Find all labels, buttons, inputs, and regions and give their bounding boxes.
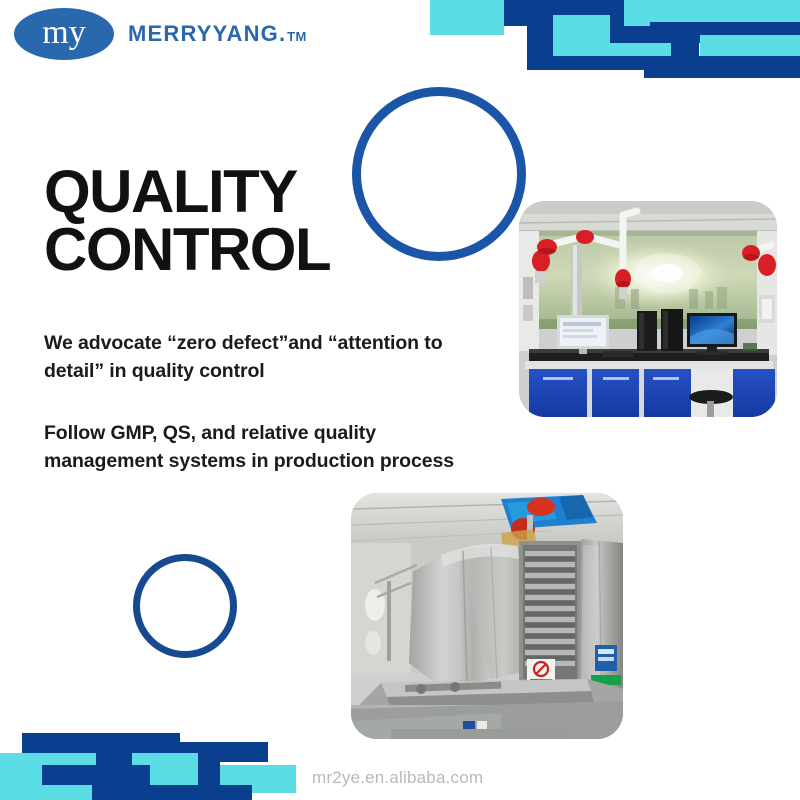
logo-wordmark-text: MERRYYANG xyxy=(128,21,279,46)
decor-block-blue-13 xyxy=(42,765,150,785)
decor-block-blue-14 xyxy=(92,785,252,800)
poster-canvas: my MERRYYANG.TM QUALITY CONTROL We advoc… xyxy=(0,0,800,800)
decor-block-blue-8 xyxy=(644,56,800,78)
logo-ellipse-mark: my xyxy=(14,8,114,60)
decor-block-cyan-9 xyxy=(150,765,194,785)
decor-block-cyan-1 xyxy=(430,0,504,35)
decor-ring-small xyxy=(133,554,237,658)
laboratory-illustration xyxy=(519,201,777,417)
machinery-illustration xyxy=(351,493,623,739)
decor-block-cyan-5 xyxy=(700,35,800,56)
decor-block-blue-4 xyxy=(650,22,800,36)
logo-tm: TM xyxy=(287,29,307,44)
body-paragraph-2: Follow GMP, QS, and relative quality man… xyxy=(44,420,454,475)
page-title-line-2: CONTROL xyxy=(44,221,384,279)
body-paragraph-1: We advocate “zero defect”and “attention … xyxy=(44,330,494,385)
logo-wordmark: MERRYYANG.TM xyxy=(128,21,307,47)
footer-website-url[interactable]: mr2ye.en.alibaba.com xyxy=(312,768,483,788)
decor-block-blue-12 xyxy=(198,742,220,785)
brand-logo[interactable]: my MERRYYANG.TM xyxy=(14,8,307,60)
photo-production-machinery xyxy=(351,493,623,739)
logo-mark-text: my xyxy=(42,16,85,50)
page-title-line-1: QUALITY xyxy=(44,158,297,225)
decor-block-cyan-4 xyxy=(553,43,671,56)
logo-dot: . xyxy=(279,21,287,46)
page-title: QUALITY CONTROL xyxy=(44,163,384,279)
photo-quality-control-laboratory xyxy=(519,201,777,417)
